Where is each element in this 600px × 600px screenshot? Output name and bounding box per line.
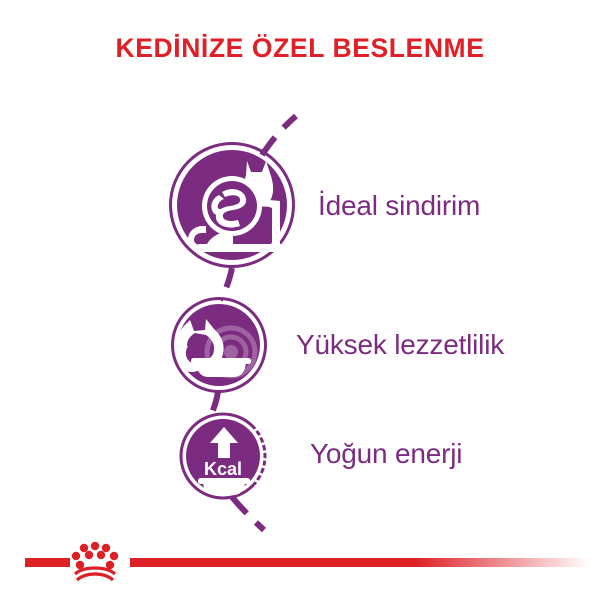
- page-root: KEDİNİZE ÖZEL BESLENME: [0, 0, 600, 600]
- brand-rule-right: [130, 558, 590, 567]
- feature-artwork: Kcal: [0, 0, 600, 600]
- feature-icon-3: Kcal: [181, 414, 271, 498]
- feature-label-ideal-sindirim: İdeal sindirim: [318, 190, 480, 222]
- feature-icon-2: [173, 299, 266, 392]
- feature-label-yuksek-lezzetlilik: Yüksek lezzetlilik: [296, 329, 504, 361]
- feature-icon-1: [171, 144, 294, 267]
- royal-canin-crown-logo: [62, 540, 128, 582]
- feature-label-yogun-enerji: Yoğun enerji: [310, 438, 462, 470]
- kcal-label: Kcal: [204, 459, 242, 479]
- footer-brand-bar: [0, 540, 600, 600]
